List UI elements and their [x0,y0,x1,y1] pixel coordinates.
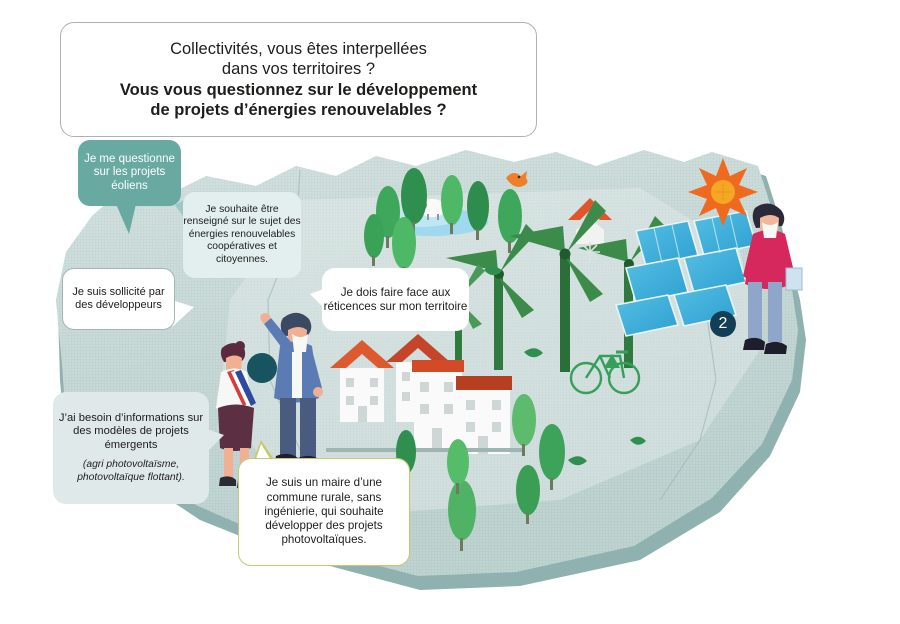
speech-bubble-sollicite: Je suis sollicité par des développeurs [62,268,175,330]
speech-bubble-reticences: Je dois faire face aux réticences sur mo… [322,268,469,331]
bubble-tail-eolien [116,204,136,234]
speech-bubble-maire-text: Je suis un maire d’une commune rurale, s… [239,476,409,547]
speech-bubble-eolien: Je me questionne sur les projets éoliens [78,140,181,206]
bubble-tail-sollicite [172,300,194,327]
speech-bubble-modeles: J’ai besoin d’informations sur des modèl… [53,392,209,504]
title-line-1: Collectivités, vous êtes interpellées [170,39,427,60]
speech-bubble-cooperatives-text: Je souhaite être renseigné sur le sujet … [183,204,301,266]
speech-bubble-cooperatives: Je souhaite être renseigné sur le sujet … [183,192,301,278]
speech-bubble-modeles-wrap: J’ai besoin d’informations sur des modèl… [53,412,209,485]
teal-dot-accent [247,353,277,383]
speech-bubble-maire: Je suis un maire d’une commune rurale, s… [238,458,410,566]
infographic-canvas: Collectivités, vous êtes interpellées da… [0,0,900,624]
speech-bubble-eolien-text: Je me questionne sur les projets éoliens [78,153,181,194]
speech-bubble-sollicite-text: Je suis sollicité par des développeurs [63,286,174,312]
speech-bubble-modeles-text: J’ai besoin d’informations sur des modèl… [59,412,203,451]
flower-decor [580,242,600,262]
speech-bubble-modeles-subtext: (agri photovoltaïsme, photovoltaïque flo… [53,459,209,484]
title-line-4: de projets d’énergies renouvelables ? [150,100,446,121]
title-line-2: dans vos territoires ? [222,59,375,80]
title-panel: Collectivités, vous êtes interpellées da… [60,22,537,137]
title-line-3: Vous vous questionnez sur le développeme… [120,80,477,101]
step-number-badge: 2 [710,311,736,337]
speech-bubble-reticences-text: Je dois faire face aux réticences sur mo… [322,286,469,314]
